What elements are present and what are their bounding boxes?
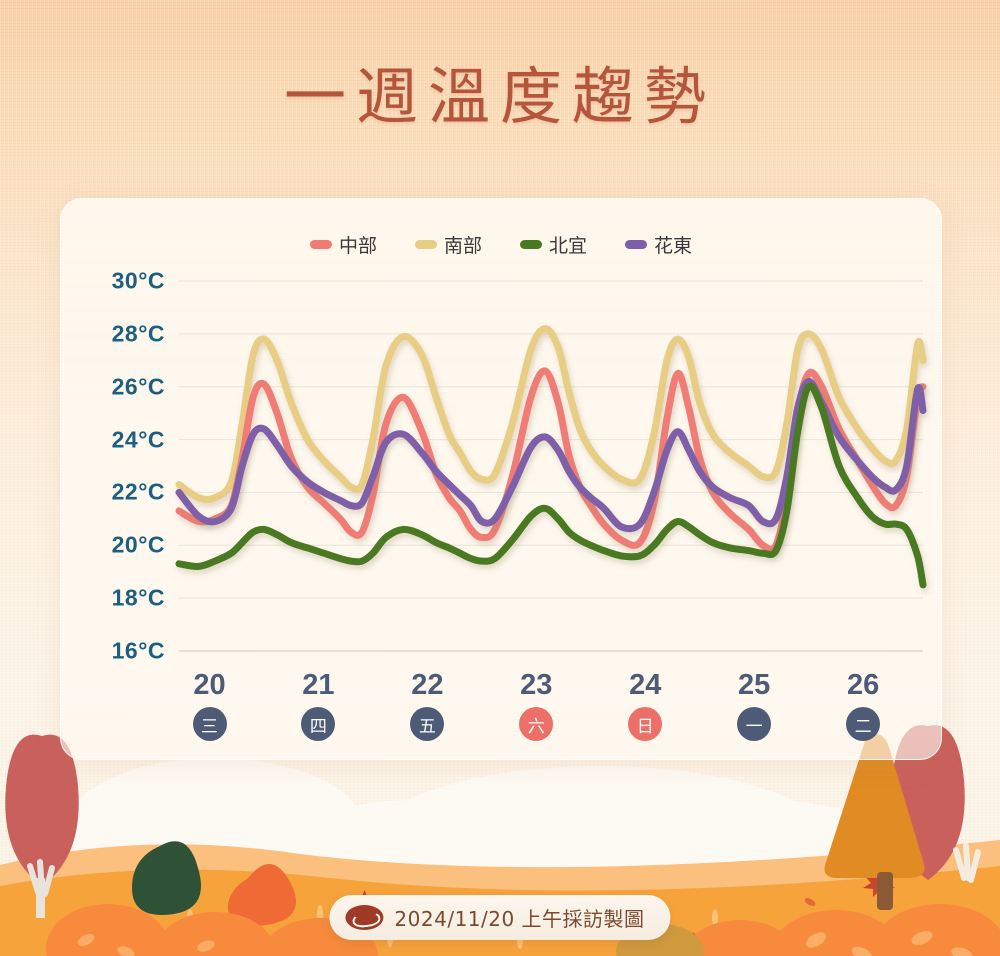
legend-label: 花東	[654, 231, 692, 258]
legend-item-北宜: 北宜	[520, 231, 587, 258]
x-axis-date: 26	[846, 671, 880, 700]
weekday-badge: 五	[410, 707, 444, 741]
x-axis-date: 24	[628, 671, 662, 700]
legend-swatch	[625, 240, 647, 249]
legend-item-花東: 花東	[625, 231, 692, 258]
footer-text: 2024/11/20 上午採訪製圖	[394, 903, 644, 932]
legend-label: 中部	[339, 231, 377, 258]
y-axis-label: 22°C	[112, 479, 165, 506]
y-axis-label: 28°C	[112, 320, 165, 347]
x-axis-day-22: 22五	[410, 671, 444, 741]
weekday-badge: 二	[846, 707, 880, 741]
bird-logo-icon	[345, 905, 383, 930]
legend-item-中部: 中部	[310, 231, 377, 258]
legend-swatch	[415, 240, 437, 249]
y-axis-label: 16°C	[112, 638, 165, 665]
y-axis-label: 24°C	[112, 426, 165, 453]
footer-credit: 2024/11/20 上午採訪製圖	[329, 895, 670, 940]
y-axis-label: 18°C	[112, 585, 165, 612]
x-axis-date: 21	[301, 671, 335, 700]
page-title: 一週溫度趨勢	[0, 46, 1000, 136]
legend-label: 南部	[444, 231, 482, 258]
x-axis-date: 22	[410, 671, 444, 700]
x-axis-day-21: 21四	[301, 671, 335, 741]
series-line-北宜	[179, 386, 923, 585]
y-axis-label: 30°C	[112, 268, 165, 295]
legend-item-南部: 南部	[415, 231, 482, 258]
chart-plot-area: 30°C28°C26°C24°C22°C20°C18°C16°C 20三21四2…	[61, 199, 941, 759]
chart-legend: 中部南部北宜花東	[61, 231, 941, 258]
chart-card: 中部南部北宜花東 30°C28°C26°C24°C22°C20°C18°C16°…	[60, 198, 942, 760]
x-axis-date: 25	[737, 671, 771, 700]
x-axis-day-26: 26二	[846, 671, 880, 741]
y-axis-label: 26°C	[112, 373, 165, 400]
x-axis-day-23: 23六	[519, 671, 553, 741]
x-axis-day-24: 24日	[628, 671, 662, 741]
x-axis-day-20: 20三	[193, 671, 227, 741]
weekday-badge: 六	[519, 707, 553, 741]
x-axis-date: 23	[519, 671, 553, 700]
legend-swatch	[520, 240, 542, 249]
legend-label: 北宜	[549, 231, 587, 258]
y-axis-label: 20°C	[112, 532, 165, 559]
legend-swatch	[310, 240, 332, 249]
x-axis-date: 20	[193, 671, 227, 700]
weekday-badge: 四	[301, 707, 335, 741]
x-axis-day-25: 25一	[737, 671, 771, 741]
weekday-badge: 一	[737, 707, 771, 741]
weekday-badge: 日	[628, 707, 662, 741]
series-line-南部	[179, 329, 923, 500]
weekday-badge: 三	[193, 707, 227, 741]
